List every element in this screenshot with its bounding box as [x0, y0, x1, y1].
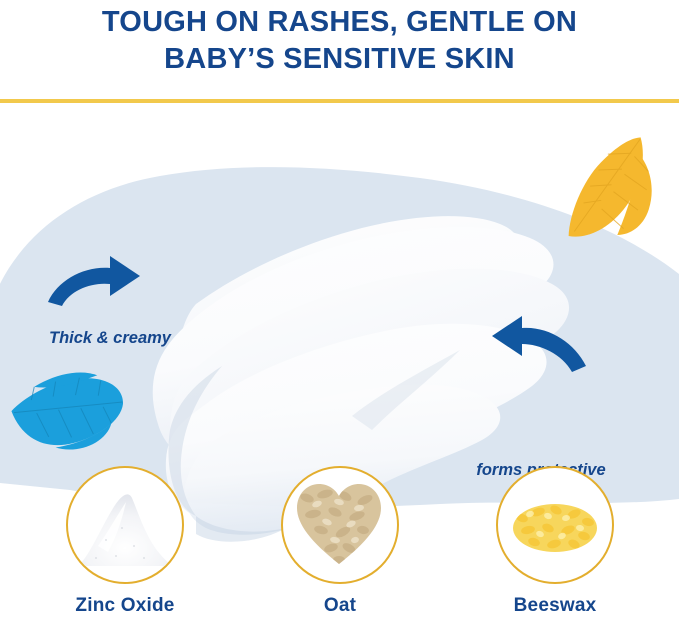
headline-line-2: BABY’S SENSITIVE SKIN — [0, 41, 679, 78]
ingredient-row: Zinc Oxide — [0, 466, 679, 625]
ingredient-oat: Oat — [265, 466, 415, 617]
ingredient-label-zinc-oxide: Zinc Oxide — [50, 595, 200, 617]
beeswax-disc — [496, 466, 614, 584]
ingredient-zinc-oxide: Zinc Oxide — [50, 466, 200, 617]
zinc-oxide-powder-icon — [68, 468, 181, 581]
callout-thick-creamy-text: Thick & creamy — [49, 329, 171, 347]
gold-divider — [0, 99, 679, 103]
beeswax-pellets-icon — [498, 468, 611, 581]
oat-heart-icon — [283, 468, 396, 581]
ingredient-label-oat: Oat — [265, 595, 415, 617]
infographic-panel: TOUGH ON RASHES, GENTLE ON BABY’S SENSIT… — [0, 0, 679, 625]
ingredient-label-beeswax: Beeswax — [480, 595, 630, 617]
callout-thick-creamy: Thick & creamy — [49, 328, 171, 349]
zinc-oxide-disc — [66, 466, 184, 584]
ingredient-beeswax: Beeswax — [480, 466, 630, 617]
page-title: TOUGH ON RASHES, GENTLE ON BABY’S SENSIT… — [0, 0, 679, 78]
oat-disc — [281, 466, 399, 584]
headline-line-1: TOUGH ON RASHES, GENTLE ON — [0, 4, 679, 41]
